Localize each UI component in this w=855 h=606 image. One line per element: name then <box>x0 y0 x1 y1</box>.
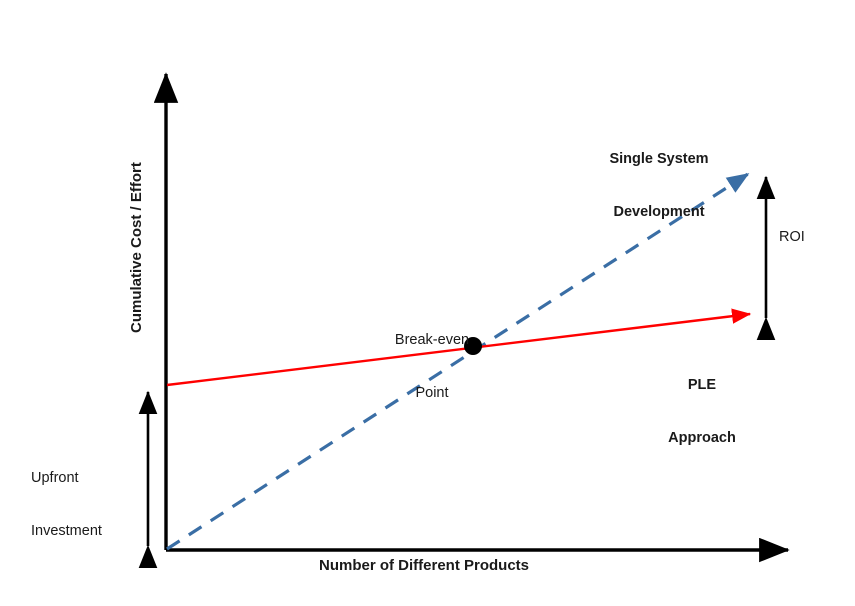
ple-approach-label: PLE Approach <box>612 342 792 484</box>
upfront-investment-label-line2: Investment <box>31 523 151 541</box>
upfront-investment-label: Upfront Investment <box>31 435 151 577</box>
single-system-development-label-line2: Development <box>549 204 769 222</box>
break-even-point-label: Break-even Point <box>347 297 517 439</box>
y-axis-title: Cumulative Cost / Effort <box>128 162 145 333</box>
x-axis-title: Number of Different Products <box>319 557 529 574</box>
ple-approach-label-line2: Approach <box>612 430 792 448</box>
ple-approach-label-line1: PLE <box>612 377 792 395</box>
break-even-point-label-line1: Break-even <box>347 332 517 350</box>
roi-label: ROI <box>779 229 805 247</box>
break-even-point-label-line2: Point <box>347 385 517 403</box>
single-system-development-label-line1: Single System <box>549 151 769 169</box>
single-system-development-label: Single System Development <box>549 116 769 258</box>
upfront-investment-label-line1: Upfront <box>31 470 151 488</box>
diagram-canvas: Cumulative Cost / Effort Number of Diffe… <box>0 0 855 606</box>
